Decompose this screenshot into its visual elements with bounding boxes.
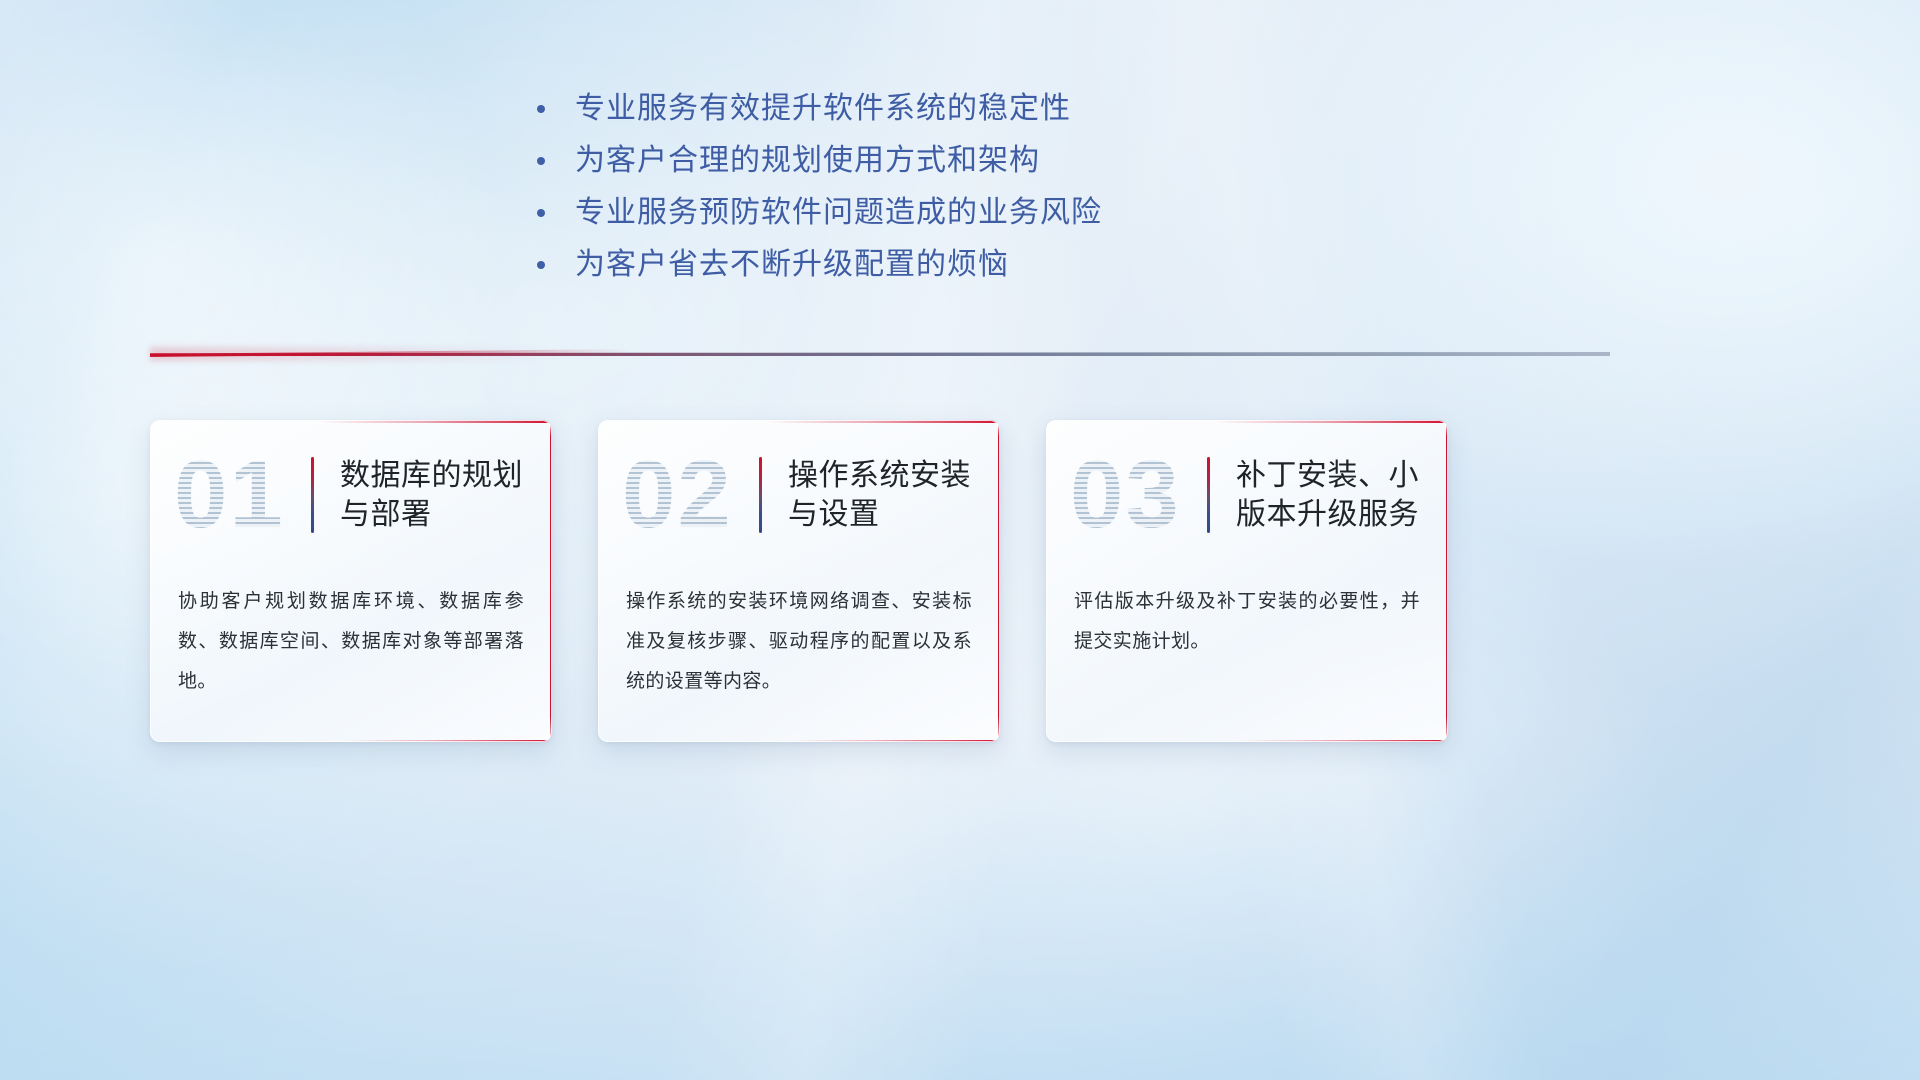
card-header: 02 02 操作系统安装与设置	[598, 420, 1000, 570]
card-title: 补丁安装、小版本升级服务	[1236, 456, 1448, 534]
card-header: 01 01 数据库的规划与部署	[150, 420, 552, 570]
bullet-item-label: 为客户省去不断升级配置的烦恼	[575, 246, 1009, 284]
bullet-item-label: 为客户合理的规划使用方式和架构	[575, 142, 1040, 180]
card-body: 协助客户规划数据库环境、数据库参数、数据库空间、数据库对象等部署落地。	[150, 570, 552, 702]
bullet-dot-icon	[537, 261, 545, 269]
card-number-watermark: 03	[1070, 447, 1203, 543]
section-divider	[150, 345, 1610, 367]
card-red-bottom-accent	[1239, 740, 1448, 743]
service-card-02[interactable]: 02 02 操作系统安装与设置 操作系统的安装环境网络调查、安装标准及复核步骤、…	[598, 420, 1000, 742]
card-red-bottom-accent	[343, 740, 552, 743]
list-item: 为客户合理的规划使用方式和架构	[537, 142, 1237, 194]
card-description: 操作系统的安装环境网络调查、安装标准及复核步骤、驱动程序的配置以及系统的设置等内…	[626, 582, 972, 702]
bullet-item-label: 专业服务预防软件问题造成的业务风险	[575, 194, 1102, 232]
service-card-03[interactable]: 03 03 补丁安装、小版本升级服务 评估版本升级及补丁安装的必要性，并提交实施…	[1046, 420, 1448, 742]
bullet-dot-icon	[537, 105, 545, 113]
benefits-bullet-list: 专业服务有效提升软件系统的稳定性 为客户合理的规划使用方式和架构 专业服务预防软…	[537, 90, 1237, 298]
card-header: 03 03 补丁安装、小版本升级服务	[1046, 420, 1448, 570]
card-description: 评估版本升级及补丁安装的必要性，并提交实施计划。	[1074, 582, 1420, 662]
bullet-dot-icon	[537, 209, 545, 217]
list-item: 专业服务有效提升软件系统的稳定性	[537, 90, 1237, 142]
service-card-01[interactable]: 01 01 数据库的规划与部署 协助客户规划数据库环境、数据库参数、数据库空间、…	[150, 420, 552, 742]
card-red-bottom-accent	[791, 740, 1000, 743]
card-body: 操作系统的安装环境网络调查、安装标准及复核步骤、驱动程序的配置以及系统的设置等内…	[598, 570, 1000, 702]
bullet-item-label: 专业服务有效提升软件系统的稳定性	[575, 90, 1071, 128]
card-body: 评估版本升级及补丁安装的必要性，并提交实施计划。	[1046, 570, 1448, 662]
card-title: 数据库的规划与部署	[340, 456, 552, 534]
list-item: 为客户省去不断升级配置的烦恼	[537, 246, 1237, 298]
bullet-dot-icon	[537, 157, 545, 165]
card-number-watermark: 02	[622, 447, 755, 543]
card-number-watermark: 01	[174, 447, 307, 543]
card-title: 操作系统安装与设置	[788, 456, 1000, 534]
card-description: 协助客户规划数据库环境、数据库参数、数据库空间、数据库对象等部署落地。	[178, 582, 524, 702]
list-item: 专业服务预防软件问题造成的业务风险	[537, 194, 1237, 246]
service-cards-row: 01 01 数据库的规划与部署 协助客户规划数据库环境、数据库参数、数据库空间、…	[150, 420, 1448, 742]
